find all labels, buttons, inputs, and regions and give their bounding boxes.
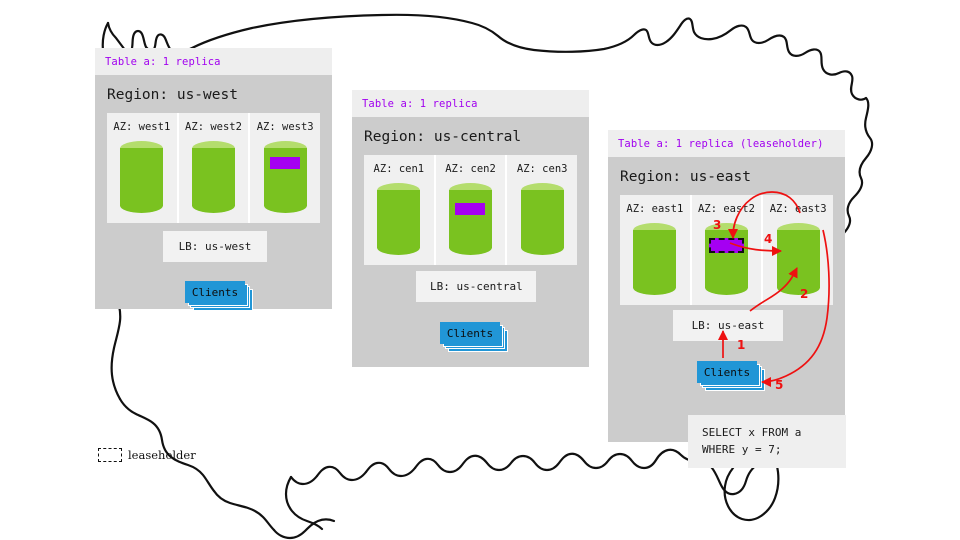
cylinder-bottom — [264, 198, 307, 213]
clients-us-central[interactable]: Clients — [440, 322, 510, 352]
arrow-label-5: 5 — [775, 378, 783, 392]
lb-us-east[interactable]: LB: us-east — [673, 310, 783, 341]
az-east1[interactable]: AZ: east1 — [620, 195, 690, 305]
cylinder-bottom — [377, 240, 420, 255]
az-west3[interactable]: AZ: west3 — [250, 113, 320, 223]
region-us-west-az-row: AZ: west1 AZ: west2 — [107, 113, 320, 223]
az-east2-cylinder[interactable] — [705, 223, 748, 295]
clients-us-central-label[interactable]: Clients — [440, 322, 500, 344]
az-east3-label: AZ: east3 — [770, 203, 827, 215]
clients-us-west-label[interactable]: Clients — [185, 281, 245, 303]
region-us-central-header: Table a: 1 replica — [352, 90, 589, 117]
region-us-central-title: Region: us-central — [352, 117, 589, 155]
az-west1-label: AZ: west1 — [113, 121, 170, 133]
az-east1-label: AZ: east1 — [626, 203, 683, 215]
arrow-label-3: 3 — [713, 218, 721, 232]
arrow-label-4: 4 — [764, 232, 772, 246]
legend-label: leaseholder — [128, 448, 196, 462]
clients-us-east-west[interactable]: Clients — [185, 281, 255, 311]
az-west2-label: AZ: west2 — [185, 121, 242, 133]
arrow-label-1: 1 — [737, 338, 745, 352]
cylinder-bottom — [705, 280, 748, 295]
dashed-rect-icon — [98, 448, 122, 462]
cylinder-bottom — [120, 198, 163, 213]
az-cen3-cylinder[interactable] — [521, 183, 564, 255]
region-us-west-header: Table a: 1 replica — [95, 48, 332, 75]
clients-us-east-label[interactable]: Clients — [697, 361, 757, 383]
az-east2[interactable]: AZ: east2 — [692, 195, 762, 305]
az-cen1[interactable]: AZ: cen1 — [364, 155, 434, 265]
az-cen3-label: AZ: cen3 — [517, 163, 568, 175]
cylinder-bottom — [192, 198, 235, 213]
az-cen2-cylinder[interactable] — [449, 183, 492, 255]
region-us-east-body: Region: us-east AZ: east1 AZ: east2 — [608, 157, 845, 442]
arrow-label-2: 2 — [800, 287, 808, 301]
lb-us-west[interactable]: LB: us-west — [163, 231, 267, 262]
region-us-east: Table a: 1 replica (leaseholder) Region:… — [608, 130, 845, 442]
az-cen3[interactable]: AZ: cen3 — [507, 155, 577, 265]
az-west1-cylinder[interactable] — [120, 141, 163, 213]
az-west2-cylinder[interactable] — [192, 141, 235, 213]
clients-us-east[interactable]: Clients — [697, 361, 767, 391]
az-east2-label: AZ: east2 — [698, 203, 755, 215]
az-cen1-label: AZ: cen1 — [374, 163, 425, 175]
az-west3-label: AZ: west3 — [257, 121, 314, 133]
region-us-central-az-row: AZ: cen1 AZ: cen2 — [364, 155, 577, 265]
az-cen2[interactable]: AZ: cen2 — [436, 155, 506, 265]
cylinder-bottom — [449, 240, 492, 255]
diagram-stage: Table a: 1 replica Region: us-west AZ: w… — [0, 0, 960, 540]
cylinder-bottom — [777, 280, 820, 295]
cylinder-bottom — [521, 240, 564, 255]
az-west2[interactable]: AZ: west2 — [179, 113, 249, 223]
region-us-west-body: Region: us-west AZ: west1 AZ: west2 — [95, 75, 332, 309]
az-west1[interactable]: AZ: west1 — [107, 113, 177, 223]
az-east1-cylinder[interactable] — [633, 223, 676, 295]
cylinder-bottom — [633, 280, 676, 295]
sql-query-box: SELECT x FROM a WHERE y = 7; — [688, 415, 846, 468]
region-us-east-title: Region: us-east — [608, 157, 845, 195]
region-us-east-header: Table a: 1 replica (leaseholder) — [608, 130, 845, 157]
az-cen2-label: AZ: cen2 — [445, 163, 496, 175]
az-east3[interactable]: AZ: east3 — [763, 195, 833, 305]
replica-west3[interactable] — [270, 157, 300, 169]
leaseholder-east2[interactable] — [709, 238, 744, 253]
az-west3-cylinder[interactable] — [264, 141, 307, 213]
region-us-west-title: Region: us-west — [95, 75, 332, 113]
legend-leaseholder: leaseholder — [98, 448, 196, 462]
replica-cen2[interactable] — [455, 203, 485, 215]
az-cen1-cylinder[interactable] — [377, 183, 420, 255]
region-us-west: Table a: 1 replica Region: us-west AZ: w… — [95, 48, 332, 309]
az-east3-cylinder[interactable] — [777, 223, 820, 295]
lb-us-central[interactable]: LB: us-central — [416, 271, 536, 302]
